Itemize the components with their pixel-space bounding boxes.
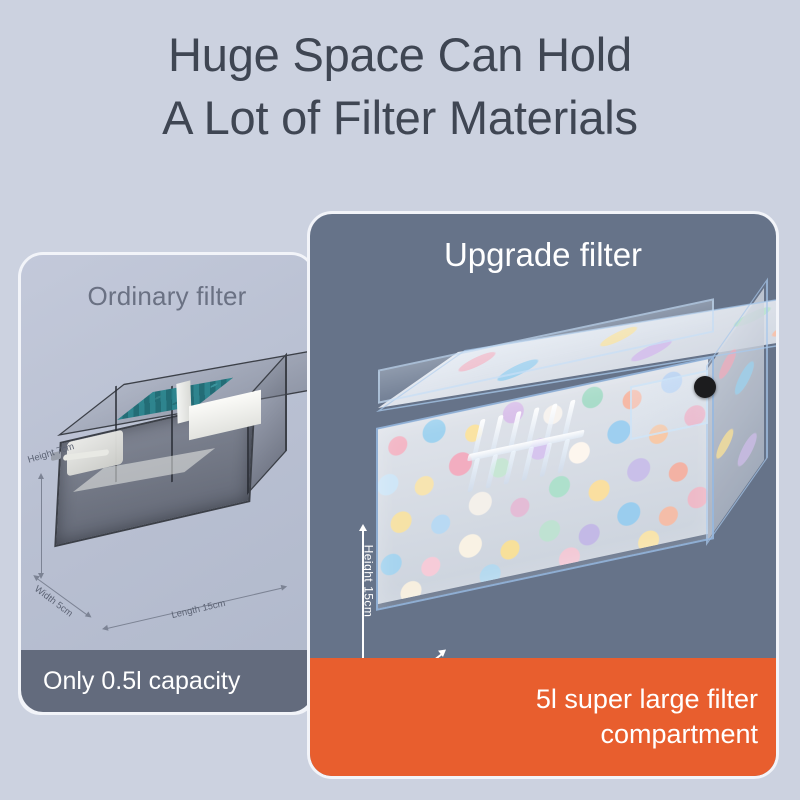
page-headline: Huge Space Can Hold A Lot of Filter Mate… <box>0 24 800 150</box>
ordinary-filter-panel: Ordinary filter Height 7cm Width 5cm Len… <box>21 255 313 712</box>
upgrade-filter-illustration: Height 15cm Width 13.5cm Length 26cm <box>338 334 776 634</box>
upgrade-height-label: Height 15cm <box>361 545 375 618</box>
upgrade-filter-caption-bar: 5l super large filter compartment <box>310 658 776 776</box>
upgrade-filter-panel: Upgrade filter Height 15cm <box>310 214 776 776</box>
comb-tooth <box>557 439 570 474</box>
ordinary-filter-caption-bar: Only 0.5l capacity <box>21 650 313 712</box>
upgrade-filter-caption-text: 5l super large filter compartment <box>536 682 758 751</box>
upgrade-filter-title: Upgrade filter <box>310 236 776 274</box>
comb-tooth <box>539 442 552 477</box>
ordinary-filter-caption-text: Only 0.5l capacity <box>43 667 240 696</box>
ordinary-filter-title: Ordinary filter <box>21 281 313 312</box>
upgrade-filter-outlet-port-icon <box>694 376 716 398</box>
comb-tooth <box>503 450 516 485</box>
ordinary-length-label: Length 15cm <box>170 598 226 621</box>
comb-tooth <box>521 446 534 481</box>
comb-tooth <box>467 458 480 493</box>
ordinary-height-arrow <box>41 478 42 574</box>
ordinary-filter-illustration: Height 7cm Width 5cm Length 15cm <box>21 340 313 625</box>
comb-tooth <box>485 454 498 489</box>
